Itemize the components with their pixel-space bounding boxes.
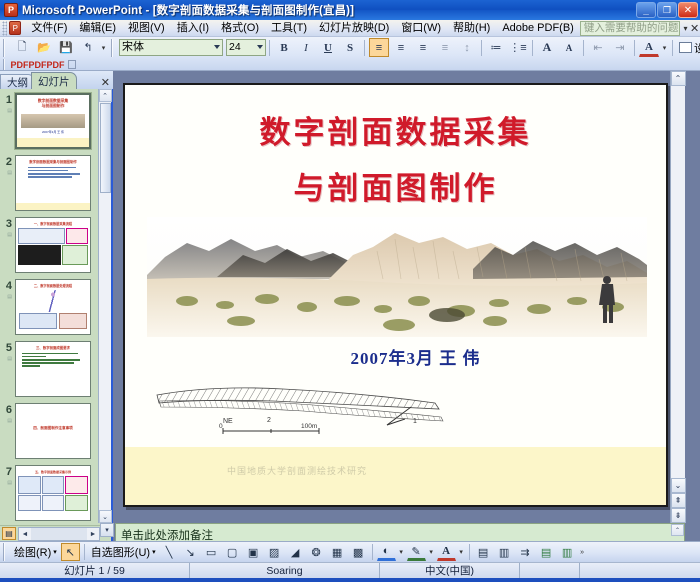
scroll-down-icon[interactable]: ⌄: [99, 510, 112, 523]
design-icon: [679, 42, 692, 53]
toolbar-grip-pdf[interactable]: [2, 59, 8, 70]
next-slide-icon[interactable]: ⇟: [671, 508, 686, 523]
font-size-combo[interactable]: 24: [226, 39, 266, 56]
thumbnail-number: 6: [6, 404, 12, 416]
thumbnail-pane-hscrollbar[interactable]: ◄ ►: [18, 527, 100, 541]
oval-icon[interactable]: ▢: [223, 543, 242, 561]
arrow-icon[interactable]: ↘: [181, 543, 200, 561]
autoshapes-label: 自选图形(U): [91, 544, 150, 560]
thumbnail-number: 1: [6, 94, 12, 106]
menu-adobe-pdf[interactable]: Adobe PDF(B): [496, 20, 580, 36]
line-color-icon[interactable]: ✎: [407, 543, 426, 561]
fill-color-icon[interactable]: ◐: [377, 543, 396, 561]
menu-format[interactable]: 格式(O): [215, 20, 265, 36]
maximize-button[interactable]: ❐: [657, 2, 677, 18]
scrollbar-thumb[interactable]: [100, 103, 111, 193]
status-cell-4: [520, 563, 580, 578]
insert-image-icon[interactable]: ▩: [349, 543, 368, 561]
diagram-icon[interactable]: ◢: [286, 543, 305, 561]
shadow-style-icon[interactable]: ▤: [537, 543, 556, 561]
chevron-down-icon[interactable]: [257, 45, 263, 49]
close-document-icon[interactable]: ✕: [689, 22, 700, 35]
design-template[interactable]: Soaring: [190, 563, 380, 578]
line-spacing-button[interactable]: ↕: [457, 38, 477, 57]
menu-window[interactable]: 窗口(W): [395, 20, 447, 36]
design-label: 设计(S): [694, 40, 700, 56]
slide-title-line-1[interactable]: 数字剖面数据采集: [125, 107, 666, 152]
slide-thumbnail-list[interactable]: 1 ▤ 数字剖面数据采集与剖面图制作 2007年3月 王 伟 2 ▤: [0, 89, 100, 523]
thumbnail-subnum: ▤: [1, 106, 12, 117]
slide-date-author[interactable]: 2007年3月 王 伟: [125, 344, 666, 369]
rectangle-icon[interactable]: ▭: [202, 543, 221, 561]
slide-faint-caption: 中国地质大学剖面测绘技术研究: [147, 464, 447, 477]
slide-thumbnail-5[interactable]: 三、数字剖面成图要求: [15, 341, 91, 397]
chevron-down-icon[interactable]: [214, 45, 220, 49]
decrease-font-size-button[interactable]: A: [559, 38, 579, 57]
font-color-button[interactable]: A: [639, 38, 659, 57]
drawing-font-color-dropdown-icon[interactable]: ▾: [457, 548, 466, 556]
select-objects-icon[interactable]: ↖: [61, 543, 80, 561]
slides-outline-pane: 大纲 幻灯片 ✕ 1 ▤ 数字剖面数据采集与剖面图制作 2007年3月 王 伟: [0, 71, 113, 541]
ask-a-question-input[interactable]: 键入需要帮助的问题: [580, 21, 680, 36]
line-icon[interactable]: ╲: [160, 543, 179, 561]
thumbnail-row[interactable]: 1 ▤ 数字剖面数据采集与剖面图制作 2007年3月 王 伟: [0, 93, 100, 149]
thumbnail-row[interactable]: 6 ▤ 四、剖面图制作注意事项: [0, 403, 100, 459]
current-slide-canvas[interactable]: 数字剖面数据采集 与剖面图制作: [123, 83, 668, 507]
menu-edit[interactable]: 编辑(E): [73, 20, 122, 36]
menu-grip[interactable]: [2, 21, 7, 36]
normal-view-button[interactable]: ▤: [2, 527, 16, 540]
slide-thumbnail-7[interactable]: 五、数字剖面数据采集示例: [15, 465, 91, 521]
convert-to-pdf-icon[interactable]: PDF: [11, 58, 28, 71]
line-style-icon[interactable]: ▤: [474, 543, 493, 561]
thumbnail-row[interactable]: 4 ▤ 二、数字剖面数据处理流程: [0, 279, 100, 335]
notes-pane-splitter-icon[interactable]: ▾: [100, 523, 114, 537]
chevron-down-icon[interactable]: ▾: [682, 24, 690, 33]
menu-view[interactable]: 视图(V): [122, 20, 171, 36]
standard-formatting-toolbar: 🗋 📂 💾 ↰ ▾ 宋体 24 B I U S ≡ ≡ ≡ ≡: [0, 37, 700, 58]
toolbar-grip-standard[interactable]: [2, 39, 8, 57]
minimize-button[interactable]: _: [636, 2, 656, 18]
slide-counter: 幻灯片 1 / 59: [0, 563, 190, 578]
thumbnail-row[interactable]: 2 ▤ 数字剖面数据采集与剖面图制作: [0, 155, 100, 211]
slide-thumbnail-1[interactable]: 数字剖面数据采集与剖面图制作 2007年3月 王 伟: [15, 93, 91, 149]
status-cell-5: [580, 563, 700, 578]
bold-button[interactable]: B: [274, 38, 294, 57]
slide-vertical-scrollbar[interactable]: ⌃ ⌄ ⇞ ⇟: [670, 71, 685, 523]
pane-tabs: 大纲 幻灯片 ✕: [0, 71, 113, 89]
thumbnail-number: 2: [6, 156, 12, 168]
new-file-icon[interactable]: 🗋: [12, 38, 32, 57]
editor-body: 大纲 幻灯片 ✕ 1 ▤ 数字剖面数据采集与剖面图制作 2007年3月 王 伟: [0, 71, 700, 541]
fill-color-dropdown-icon[interactable]: ▾: [397, 548, 406, 556]
design-button[interactable]: 设计(S): [676, 38, 700, 57]
slide-title-line-2[interactable]: 与剖面图制作: [125, 163, 666, 208]
draw-menu-button[interactable]: 绘图(R) ▾: [11, 543, 60, 562]
powerpoint-icon: P: [4, 3, 18, 17]
thumbnail-row[interactable]: 7 ▤ 五、数字剖面数据采集示例: [0, 465, 100, 521]
dash-style-icon[interactable]: ▥: [495, 543, 514, 561]
language-indicator[interactable]: 中文(中国): [380, 563, 520, 578]
font-size-value: 24: [229, 41, 241, 53]
document-icon: P: [9, 21, 21, 35]
wordart-icon[interactable]: ▨: [265, 543, 284, 561]
numbering-button[interactable]: ≔: [486, 38, 506, 57]
scroll-right-icon[interactable]: ►: [87, 531, 99, 538]
text-shadow-button[interactable]: S: [340, 38, 360, 57]
open-file-icon[interactable]: 📂: [34, 38, 54, 57]
insert-picture-icon[interactable]: ▦: [328, 543, 347, 561]
pdf-toolbar-overflow-icon[interactable]: [68, 60, 76, 69]
decrease-indent-button[interactable]: ⇤: [588, 38, 608, 57]
toolbar-grip-drawing[interactable]: [2, 543, 8, 561]
increase-font-size-button[interactable]: A: [537, 38, 557, 57]
convert-and-email-pdf-icon[interactable]: PDF: [29, 58, 46, 71]
align-center-button[interactable]: ≡: [391, 38, 411, 57]
align-right-button[interactable]: ≡: [413, 38, 433, 57]
window-title: Microsoft PowerPoint - [数字剖面数据采集与剖面图制作(宜…: [22, 2, 354, 18]
slide-thumbnail-4[interactable]: 二、数字剖面数据处理流程: [15, 279, 91, 335]
toolbar-grip-formatting[interactable]: [110, 39, 116, 57]
font-color-dropdown-icon[interactable]: ▾: [660, 44, 669, 52]
powerpoint-window: P Microsoft PowerPoint - [数字剖面数据采集与剖面图制作…: [0, 0, 700, 582]
menu-insert[interactable]: 插入(I): [171, 20, 215, 36]
figure-layer-2-label: 2: [267, 417, 271, 424]
toolbar-area: 🗋 📂 💾 ↰ ▾ 宋体 24 B I U S ≡ ≡ ≡ ≡: [0, 37, 700, 71]
slide-thumbnail-2[interactable]: 数字剖面数据采集与剖面图制作: [15, 155, 91, 211]
text-box-icon[interactable]: ▣: [244, 543, 263, 561]
clip-art-icon[interactable]: ❂: [307, 543, 326, 561]
close-pane-icon[interactable]: ✕: [101, 76, 110, 89]
thumbnail-number: 5: [6, 342, 12, 354]
save-icon[interactable]: 💾: [56, 38, 76, 57]
slide-edit-area[interactable]: 数字剖面数据采集 与剖面图制作: [115, 71, 685, 523]
underline-button[interactable]: U: [318, 38, 338, 57]
scroll-left-icon[interactable]: ◄: [19, 531, 31, 538]
chevron-down-icon: ▾: [152, 548, 156, 556]
font-name-combo[interactable]: 宋体: [119, 39, 223, 56]
drawing-toolbar: 绘图(R) ▾ ↖ 自选图形(U) ▾ ╲ ↘ ▭ ▢ ▣ ▨ ◢ ❂ ▦ ▩ …: [0, 541, 700, 562]
scroll-up-icon[interactable]: ⌃: [99, 89, 112, 102]
tab-slides[interactable]: 幻灯片: [31, 72, 77, 89]
3d-style-icon[interactable]: ▥: [558, 543, 577, 561]
menu-help[interactable]: 帮助(H): [447, 20, 496, 36]
align-left-button[interactable]: ≡: [369, 38, 389, 57]
arrow-style-icon[interactable]: ⇉: [516, 543, 535, 561]
drawing-toolbar-overflow-icon[interactable]: »: [578, 549, 587, 556]
menu-tools[interactable]: 工具(T): [265, 20, 313, 36]
slide-thumbnail-6[interactable]: 四、剖面图制作注意事项: [15, 403, 91, 459]
bullets-button[interactable]: ⋮≡: [508, 38, 528, 57]
font-name-value: 宋体: [122, 41, 144, 53]
scroll-down-icon[interactable]: ⌄: [671, 478, 686, 493]
scroll-up-icon[interactable]: ⌃: [671, 71, 686, 86]
line-color-dropdown-icon[interactable]: ▾: [427, 548, 436, 556]
align-justify-button[interactable]: ≡: [435, 38, 455, 57]
desert-mountain-landscape-photo[interactable]: [147, 217, 647, 337]
autoshapes-menu-button[interactable]: 自选图形(U) ▾: [88, 543, 159, 562]
drawing-font-color-icon[interactable]: A: [437, 543, 456, 561]
undo-dropdown-icon[interactable]: ▾: [99, 44, 108, 52]
thumbnail-row[interactable]: 5 ▤ 三、数字剖面成图要求: [0, 341, 100, 397]
increase-indent-button[interactable]: ⇥: [610, 38, 630, 57]
chevron-down-icon: ▾: [53, 548, 57, 556]
thumbnail-number: 4: [6, 280, 12, 292]
status-bar: 幻灯片 1 / 59 Soaring 中文(中国): [0, 562, 700, 578]
figure-scale-end: 100m: [301, 423, 317, 430]
thumbnail-row[interactable]: 3 ▤ 一、数字剖面数据采集流程: [0, 217, 100, 273]
pdf-review-icon[interactable]: PDF: [47, 58, 64, 71]
figure-scale-start: 0: [219, 423, 223, 430]
thumbnail-pane-scrollbar[interactable]: ⌃ ⌄: [98, 89, 111, 523]
figure-layer-1-label: 1: [413, 418, 417, 425]
draw-menu-label: 绘图(R): [14, 544, 51, 560]
notes-scroll-up-icon[interactable]: ⌃: [671, 524, 684, 536]
undo-icon[interactable]: ↰: [78, 38, 98, 57]
window-bottom-edge: [0, 578, 700, 582]
thumbnail-number: 3: [6, 218, 12, 230]
figure-direction-label: NE: [223, 418, 233, 425]
thumbnail-number: 7: [6, 466, 12, 478]
tab-outline[interactable]: 大纲: [0, 74, 35, 89]
menu-slideshow[interactable]: 幻灯片放映(D): [313, 20, 395, 36]
title-bar: P Microsoft PowerPoint - [数字剖面数据采集与剖面图制作…: [0, 0, 700, 20]
menu-bar: P 文件(F) 编辑(E) 视图(V) 插入(I) 格式(O) 工具(T) 幻灯…: [0, 20, 700, 37]
adobe-pdf-toolbar: PDF PDF PDF: [0, 58, 700, 71]
close-button[interactable]: ✕: [678, 2, 698, 18]
menu-file[interactable]: 文件(F): [25, 20, 73, 36]
slide-thumbnail-3[interactable]: 一、数字剖面数据采集流程: [15, 217, 91, 273]
previous-slide-icon[interactable]: ⇞: [671, 493, 686, 508]
geological-cross-section-figure[interactable]: NE 2 1 0 100m: [143, 379, 463, 445]
hscroll-track[interactable]: [31, 528, 87, 540]
italic-button[interactable]: I: [296, 38, 316, 57]
